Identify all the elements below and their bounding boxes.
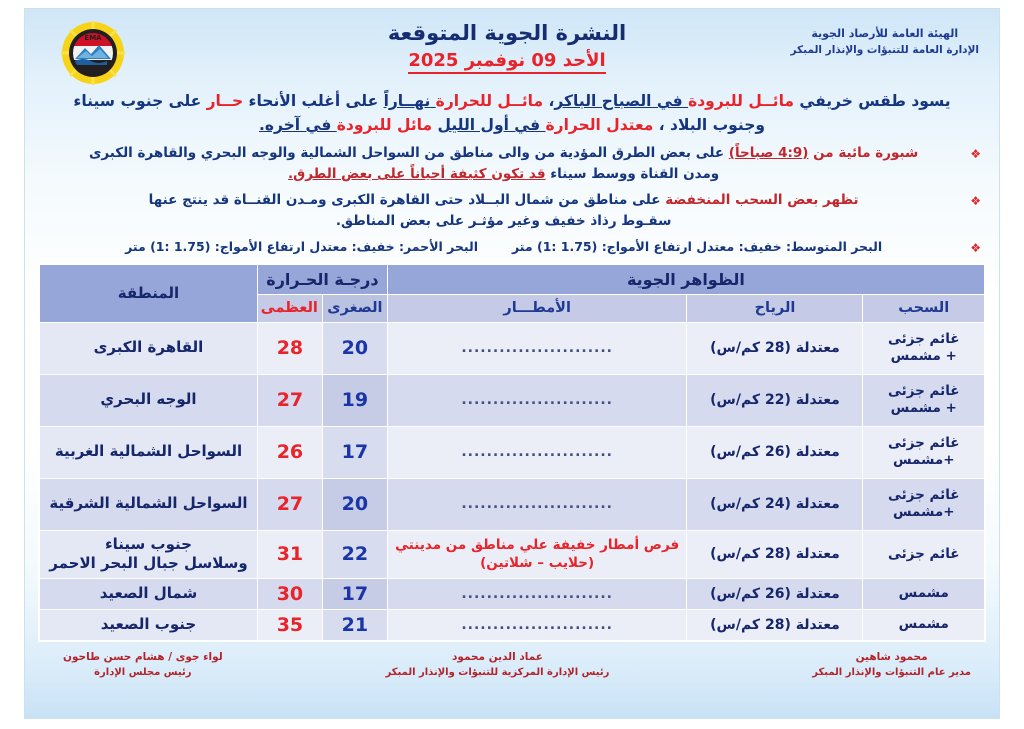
bulletin-date: الأحد 09 نوفمبر 2025 <box>408 50 605 74</box>
table-row: غائم جزئى+ مشمسمعتدلة (22 كم/س).........… <box>40 374 985 426</box>
signature-name: لواء جوى / هشام حسن طاحون <box>63 650 223 666</box>
bullet-item-sea: ❖ البحر المتوسط: خفيف: معتدل ارتفاع الأم… <box>43 237 981 257</box>
bullet-fog-line-1: شبورة مائية من (4:9 صباحاً) على بعض الطر… <box>43 143 964 164</box>
cell-min-temp: 20 <box>322 322 387 374</box>
header-cloud: السحب <box>863 294 985 322</box>
summary-seg: وجنوب البلاد ، <box>653 116 765 134</box>
bullet-text-clouds: تظهر بعض السحب المنخفضة على مناطق من شما… <box>43 190 964 232</box>
cloud-line-1: غائم جزئى <box>869 435 978 452</box>
table-row: غائم جزئى+مشمسمعتدلة (24 كم/س)..........… <box>40 478 985 530</box>
signature-role: رئيس مجلس الإدارة <box>63 665 223 680</box>
summary-seg-night: في أول الليل <box>437 116 545 134</box>
sea-red-waves-label: ارتفاع الأمواج: <box>215 239 305 254</box>
bullet-text-fog: شبورة مائية من (4:9 صباحاً) على بعض الطر… <box>43 143 964 185</box>
bullet-seg-lowclouds: تظهر بعض السحب المنخفضة <box>665 192 858 208</box>
cell-max-temp: 35 <box>257 609 322 640</box>
bullet-seg-time: (4:9 صباحاً) <box>729 145 809 161</box>
bullet-fog-line-2: ومدن القناة ووسط سيناء قد تكون كثيفة أحي… <box>43 164 964 185</box>
footer-signatures: محمود شاهين مدير عام التنبؤات والإنذار ا… <box>37 648 987 681</box>
summary-seg: على جنوب سيناء <box>73 92 206 110</box>
summary-seg-morning: في الصباح الباكر <box>554 92 688 110</box>
signature-central-head: عماد الدين محمود رئيس الإدارة المركزية ل… <box>386 650 610 681</box>
bullet-item-fog: ❖ شبورة مائية من (4:9 صباحاً) على بعض ال… <box>43 143 981 185</box>
diamond-bullet-icon: ❖ <box>970 190 981 210</box>
organization-name: الهيئة العامة للأرصاد الجوية <box>791 25 979 42</box>
summary-seg-warm: مائــل للحرارة <box>436 92 543 110</box>
table-row: غائم جزئىمعتدلة (28 كم/س)فرص أمطار خفيفة… <box>40 530 985 578</box>
cell-min-temp: 22 <box>322 530 387 578</box>
signature-board-chairman: لواء جوى / هشام حسن طاحون رئيس مجلس الإد… <box>63 650 223 681</box>
cell-min-temp: 21 <box>322 609 387 640</box>
summary-line-2: وجنوب البلاد ، معتدل الحرارة في أول اللي… <box>47 113 977 137</box>
header-max-temp: العظمى <box>257 294 322 322</box>
summary-seg-cold-night: مائل للبرودة <box>337 116 438 134</box>
cell-region: شمال الصعيد <box>40 578 258 609</box>
summary-seg-moderate: معتدل الحرارة <box>546 116 654 134</box>
cell-min-temp: 17 <box>322 578 387 609</box>
forecast-summary: يسود طقس خريفي مائــل للبرودة في الصباح … <box>47 89 977 137</box>
bullet-seg: شبورة مائية من <box>808 145 918 161</box>
cell-wind: معتدلة (26 كم/س) <box>687 426 863 478</box>
signature-name: محمود شاهين <box>812 650 971 666</box>
cell-max-temp: 27 <box>257 374 322 426</box>
cell-region: جنوب سيناءوسلاسل جبال البحر الاحمر <box>40 530 258 578</box>
header-phenomena: الظواهر الجوية <box>387 264 984 294</box>
table-body: غائم جزئى+ مشمسمعتدلة (28 كم/س).........… <box>40 322 985 640</box>
cell-region: القاهرة الكبرى <box>40 322 258 374</box>
organization-department: الإدارة العامة للتنبؤات والإنذار المبكر <box>791 42 979 58</box>
header-region: المنطقة <box>40 264 258 322</box>
cell-max-temp: 26 <box>257 426 322 478</box>
table-row: غائم جزئى+ مشمسمعتدلة (28 كم/س).........… <box>40 322 985 374</box>
sea-red-state: خفيف: معتدل <box>309 239 394 254</box>
sea-red-waves-value: (1.75 :1) متر <box>125 239 210 254</box>
cell-wind: معتدلة (24 كم/س) <box>687 478 863 530</box>
signature-forecast-director: محمود شاهين مدير عام التنبؤات والإنذار ا… <box>812 650 971 681</box>
table-head: الظواهر الجوية درجـة الحـرارة المنطقة ال… <box>40 264 985 322</box>
region-line-1: جنوب سيناء <box>46 535 251 555</box>
cell-max-temp: 27 <box>257 478 322 530</box>
cell-wind: معتدلة (28 كم/س) <box>687 609 863 640</box>
title-block: النشرة الجوية المتوقعة الأحد 09 نوفمبر 2… <box>357 19 657 74</box>
cell-min-temp: 17 <box>322 426 387 478</box>
cell-rain: ........................ <box>387 426 687 478</box>
sea-conditions: البحر المتوسط: خفيف: معتدل ارتفاع الأموا… <box>43 237 964 256</box>
cell-region: السواحل الشمالية الغربية <box>40 426 258 478</box>
bullet-seg: سقـوط رذاذ خفيف وغير مؤثـر على بعض المنا… <box>336 213 672 229</box>
bullet-clouds-line-1: تظهر بعض السحب المنخفضة على مناطق من شما… <box>43 190 964 211</box>
cell-cloud: غائم جزئى+مشمس <box>863 478 985 530</box>
forecast-table: الظواهر الجوية درجـة الحـرارة المنطقة ال… <box>39 264 985 641</box>
sea-med-waves-value: (1.75 :1) متر <box>512 239 597 254</box>
cell-rain: ........................ <box>387 609 687 640</box>
table-group-header-row: الظواهر الجوية درجـة الحـرارة المنطقة <box>40 264 985 294</box>
summary-seg-hot: حــار <box>207 92 244 110</box>
organization-block: الهيئة العامة للأرصاد الجوية الإدارة الع… <box>791 25 979 58</box>
diamond-bullet-icon: ❖ <box>970 237 981 257</box>
sea-red-label: البحر الأحمر: <box>399 239 478 254</box>
cloud-line-1: غائم جزئى <box>869 383 978 400</box>
table-row: غائم جزئى+مشمسمعتدلة (26 كم/س)..........… <box>40 426 985 478</box>
header: الهيئة العامة للأرصاد الجوية الإدارة الع… <box>37 15 987 87</box>
cell-wind: معتدلة (28 كم/س) <box>687 530 863 578</box>
bullet-seg: ومدن القناة ووسط سيناء <box>546 166 720 182</box>
header-min-temp: الصغرى <box>322 294 387 322</box>
summary-seg-day: نهــاراً <box>384 92 436 110</box>
sea-med-label: البحر المتوسط: <box>786 239 882 254</box>
cell-cloud: غائم جزئى <box>863 530 985 578</box>
summary-line-1: يسود طقس خريفي مائــل للبرودة في الصباح … <box>47 89 977 113</box>
cell-region: جنوب الصعيد <box>40 609 258 640</box>
bulletin-sheet: الهيئة العامة للأرصاد الجوية الإدارة الع… <box>24 8 1000 719</box>
logo-text: EMA <box>84 34 102 42</box>
bullet-seg: على بعض الطرق المؤدية من والى مناطق من ا… <box>89 145 729 161</box>
cell-cloud: غائم جزئى+ مشمس <box>863 374 985 426</box>
cell-rain: ........................ <box>387 478 687 530</box>
cloud-line-2: +مشمس <box>869 504 978 521</box>
cloud-line-2: + مشمس <box>869 348 978 365</box>
signature-role: مدير عام التنبؤات والإنذار المبكر <box>812 665 971 680</box>
cell-rain: فرص أمطار خفيفة علي مناطق من مدينتي (حلا… <box>387 530 687 578</box>
ema-logo-icon: EMA <box>47 21 139 85</box>
summary-seg-end: في آخره. <box>259 116 337 134</box>
cell-max-temp: 28 <box>257 322 322 374</box>
cell-rain: ........................ <box>387 578 687 609</box>
cell-min-temp: 20 <box>322 478 387 530</box>
header-rain: الأمطـــار <box>387 294 687 322</box>
summary-seg: يسود طقس خريفي <box>794 92 951 110</box>
cell-cloud: غائم جزئى+ مشمس <box>863 322 985 374</box>
bulletin-page: الهيئة العامة للأرصاد الجوية الإدارة الع… <box>0 0 1024 729</box>
signature-name: عماد الدين محمود <box>386 650 610 666</box>
table-row: مشمسمعتدلة (28 كم/س)....................… <box>40 609 985 640</box>
cell-cloud: مشمس <box>863 578 985 609</box>
cell-cloud: غائم جزئى+مشمس <box>863 426 985 478</box>
cell-max-temp: 31 <box>257 530 322 578</box>
header-temperature: درجـة الحـرارة <box>257 264 387 294</box>
signature-role: رئيس الإدارة المركزية للتنبؤات والإنذار … <box>386 665 610 680</box>
region-line-2: وسلاسل جبال البحر الاحمر <box>46 554 251 574</box>
bullet-list: ❖ شبورة مائية من (4:9 صباحاً) على بعض ال… <box>43 143 981 257</box>
cell-cloud: مشمس <box>863 609 985 640</box>
cloud-line-1: غائم جزئى <box>869 487 978 504</box>
cloud-line-2: +مشمس <box>869 452 978 469</box>
forecast-table-wrapper: الظواهر الجوية درجـة الحـرارة المنطقة ال… <box>38 263 986 642</box>
cloud-line-1: غائم جزئى <box>869 331 978 348</box>
sea-med-waves-label: ارتفاع الأمواج: <box>602 239 692 254</box>
cloud-line-2: + مشمس <box>869 400 978 417</box>
sea-mediterranean: البحر المتوسط: خفيف: معتدل ارتفاع الأموا… <box>512 237 882 256</box>
cell-max-temp: 30 <box>257 578 322 609</box>
sea-med-state: خفيف: معتدل <box>696 239 781 254</box>
cell-region: الوجه البحري <box>40 374 258 426</box>
bullet-clouds-line-2: سقـوط رذاذ خفيف وغير مؤثـر على بعض المنا… <box>43 211 964 232</box>
bullet-seg: على مناطق من شمال البــلاد حتى القاهرة ا… <box>149 192 666 208</box>
cell-wind: معتدلة (22 كم/س) <box>687 374 863 426</box>
table-row: مشمسمعتدلة (26 كم/س)....................… <box>40 578 985 609</box>
cell-min-temp: 19 <box>322 374 387 426</box>
summary-seg: على أغلب الأنحاء <box>243 92 383 110</box>
summary-seg: ، <box>543 92 554 110</box>
summary-seg-cold: مائــل للبرودة <box>688 92 794 110</box>
cell-rain: ........................ <box>387 374 687 426</box>
diamond-bullet-icon: ❖ <box>970 143 981 163</box>
page-title: النشرة الجوية المتوقعة <box>357 19 657 47</box>
cell-region: السواحل الشمالية الشرقية <box>40 478 258 530</box>
sea-red: البحر الأحمر: خفيف: معتدل ارتفاع الأمواج… <box>125 237 478 256</box>
bullet-seg-dense: قد تكون كثيفة أحياناً على بعض الطرق. <box>288 166 546 182</box>
cell-wind: معتدلة (26 كم/س) <box>687 578 863 609</box>
bullet-item-clouds: ❖ تظهر بعض السحب المنخفضة على مناطق من ش… <box>43 190 981 232</box>
cell-rain: ........................ <box>387 322 687 374</box>
cell-wind: معتدلة (28 كم/س) <box>687 322 863 374</box>
header-wind: الرياح <box>687 294 863 322</box>
